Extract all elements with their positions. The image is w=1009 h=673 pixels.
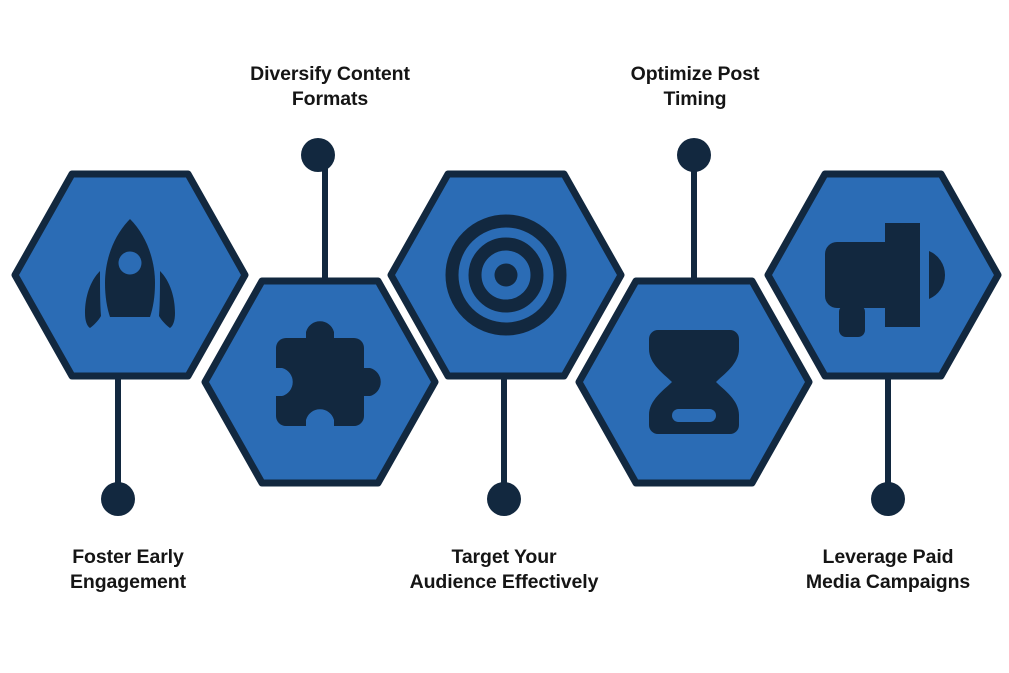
step-label-target-your-audience-effectively: Target Your Audience Effectively [394, 545, 614, 595]
hexagon-step-4[interactable] [579, 281, 809, 483]
connector-dot [301, 138, 335, 172]
hexagon-step-5[interactable] [768, 174, 998, 376]
connector-step-1 [101, 376, 135, 516]
connector-dot [101, 482, 135, 516]
hexagon-step-1[interactable] [15, 174, 245, 376]
step-label-foster-early-engagement: Foster Early Engagement [18, 545, 238, 595]
hexagon-step-3[interactable] [391, 174, 621, 376]
connector-step-3 [487, 376, 521, 516]
connector-dot [677, 138, 711, 172]
infographic-canvas: Foster Early Engagement Diversify Conten… [0, 0, 1009, 673]
connector-dot [871, 482, 905, 516]
step-label-leverage-paid-media-campaigns: Leverage Paid Media Campaigns [778, 545, 998, 595]
connector-dot [487, 482, 521, 516]
hexagon-step-2[interactable] [205, 281, 435, 483]
step-label-diversify-content-formats: Diversify Content Formats [220, 62, 440, 112]
connector-step-5 [871, 376, 905, 516]
connector-step-4 [677, 138, 711, 290]
step-label-optimize-post-timing: Optimize Post Timing [585, 62, 805, 112]
connector-step-2 [301, 138, 335, 290]
